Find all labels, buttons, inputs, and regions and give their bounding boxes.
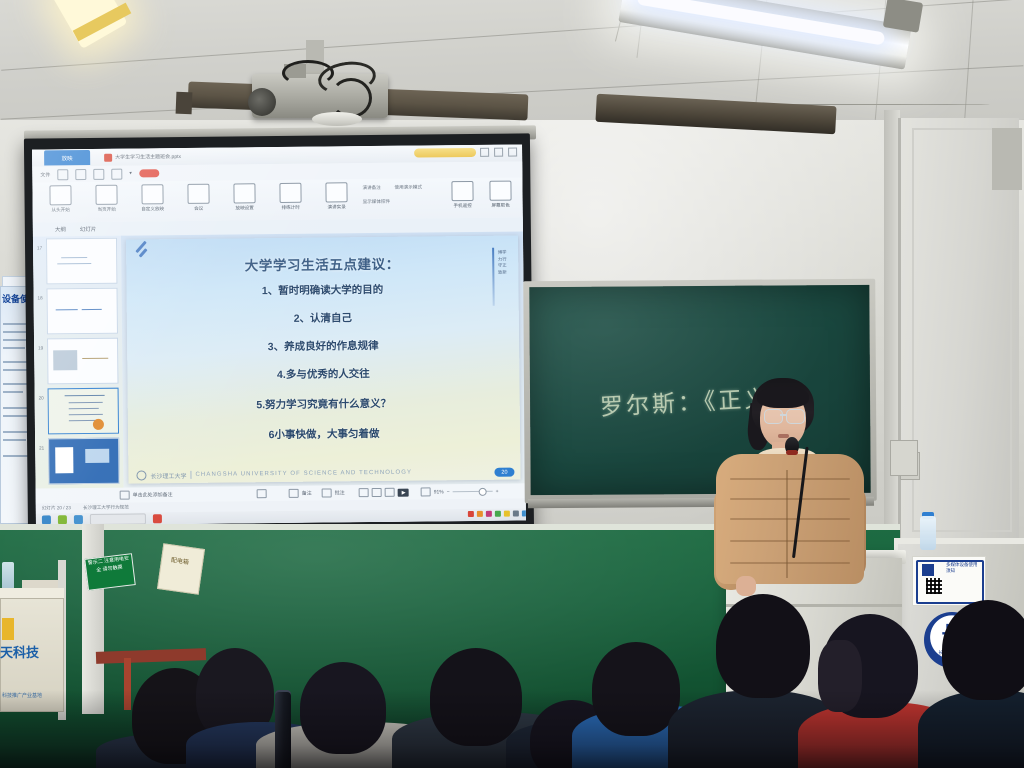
tray-icon[interactable] [477,511,483,517]
microphone-ring [786,450,798,455]
slide-number: 20 [35,388,48,403]
ribbon-check-media[interactable]: 显示媒体控件 [363,199,391,205]
comment-label[interactable]: 批注 [335,489,345,496]
fit-to-window-icon[interactable] [421,487,431,496]
ribbon-meeting[interactable]: 会议 [176,184,220,212]
file-menu[interactable]: 文件 [40,171,50,178]
browser-icon[interactable] [42,515,51,524]
zoom-slider-handle[interactable] [479,488,487,496]
slide-page-badge: 20 [494,468,514,477]
ribbon-play-from-start[interactable]: 从头开始 [38,185,82,213]
rehearse-icon [279,183,301,203]
document-name: 大学生学习生活主题班会.pptx [115,153,181,161]
slide-bullet: 5.努力学习究竟有什么意义？ [128,394,520,413]
speaker-fringe [757,386,809,408]
windows-icon[interactable] [58,515,67,524]
slide-preview[interactable] [47,338,118,385]
thumbnail-item[interactable]: 17 [33,238,118,288]
slide-bullet: 4.多与优秀的人交往 [127,364,519,383]
slide-preview[interactable] [46,238,117,285]
audience-head [942,600,1024,700]
maximize-icon[interactable] [494,148,503,157]
normal-view-icon[interactable] [359,488,369,497]
zoom-out-button[interactable]: − [447,489,450,495]
tray-icon[interactable] [513,510,519,516]
tab-slides[interactable]: 幻灯片 [80,225,97,233]
wps-presentation-window[interactable]: 放映 大学生学习生活主题班会.pptx 文件 ▾ [32,144,526,525]
speaker-puffer-jacket [716,454,864,584]
slide-bullet: 6小事快做，大事匀着做 [128,424,520,443]
slide-bullet: 3、养成良好的作息规律 [127,336,519,355]
slide-number: 21 [35,438,48,453]
eyedropper-icon [489,181,511,201]
slide-title: 大学学习生活五点建议： [126,251,518,275]
tab-slideshow[interactable]: 放映 [44,150,90,165]
thumbnail-item[interactable]: 18 [34,288,119,338]
zoom-level: 91% [434,489,444,495]
slide-preview[interactable] [48,438,119,485]
remark-icon[interactable] [289,489,299,498]
ribbon-eyedropper[interactable]: 屏幕取色 [478,180,522,208]
university-name-en: CHANGSHA UNIVERSITY OF SCIENCE AND TECHN… [195,470,412,478]
thumbnail-item-active[interactable]: 20 [35,388,120,438]
glasses-bridge-icon [780,414,787,416]
university-name-cn: 长沙理工大学 [150,470,186,479]
phone-remote-icon [451,181,473,201]
slide-bullet: 2、认清自己 [127,308,519,327]
cabinet-brand-text: 天科技 [0,642,60,661]
ribbon-custom-show[interactable]: 自定义放映 [130,184,174,212]
current-slide[interactable]: 大学学习生活五点建议： 1、暂时明确读大学的目的 2、认清自己 3、养成良好的作… [126,235,521,483]
projector-lens-icon [248,88,276,116]
dropdown-caret-icon[interactable]: ▾ [129,171,132,177]
classroom-lecture-photo: 设备使用规范 放映 大学生学习生活主题班会.pptx 文件 [0,0,1024,768]
slide-number: 17 [33,238,46,253]
show-settings-icon [233,183,255,203]
slide-preview[interactable] [48,388,119,435]
light-shade-end [176,92,193,115]
slide-count-indicator: 幻灯片 20 / 23 [42,505,71,511]
ribbon-check-notes[interactable]: 演讲备注 [362,185,380,191]
glasses-left-lens-icon [764,409,783,424]
tray-icon[interactable] [486,511,492,517]
qr-code-icon [926,578,942,594]
wps-ribbon[interactable]: 从头开始 当页开始 自定义放映 会议 放映设置 [32,177,522,222]
slide-footer: 长沙理工大学 CHANGSHA UNIVERSITY OF SCIENCE AN… [128,466,520,480]
slide-bullet: 1、暂时明确读大学的目的 [126,280,518,299]
print-icon[interactable] [75,169,86,180]
pptx-file-icon [104,153,112,161]
white-pillar [82,524,104,714]
zoom-in-button[interactable]: + [496,488,499,494]
ribbon-rehearse[interactable]: 排练计时 [268,183,312,211]
undo-icon[interactable] [93,168,104,179]
play-from-start-icon [49,185,71,205]
play-current-icon [95,185,117,205]
tray-icon[interactable] [468,511,474,517]
slide-editing-stage[interactable]: 大学学习生活五点建议： 1、暂时明确读大学的目的 2、认清自己 3、养成良好的作… [121,231,526,487]
slide-sorter-icon[interactable] [372,488,382,497]
wall-control-box[interactable] [890,440,918,476]
zoom-slider[interactable] [453,491,493,493]
audience-head [716,594,810,698]
save-icon[interactable] [57,169,68,180]
redo-icon[interactable] [111,168,122,179]
ribbon-check-presenter[interactable]: 使用演示模式 [394,184,422,190]
membership-banner[interactable] [414,148,476,158]
tab-outline[interactable]: 大纲 [55,225,66,233]
distribution-box-label [157,543,205,594]
notes-icon[interactable] [120,491,130,500]
speaker-hand [736,576,756,596]
play-slideshow-icon[interactable] [398,488,409,496]
cabinet-logo-icon [2,618,14,640]
explorer-window-button[interactable] [90,513,146,525]
water-bottle-on-desk [920,516,936,550]
close-icon[interactable] [508,147,517,156]
slide-number: 18 [34,288,47,303]
smoke-detector [312,112,362,126]
tray-icon[interactable] [522,510,526,516]
ribbon-play-current[interactable]: 当页开始 [84,185,128,213]
light-end-cap [883,0,923,33]
wps-icon[interactable] [153,514,162,523]
member-badge[interactable] [139,169,159,177]
remark-label[interactable]: 备注 [302,490,312,497]
jacket-zipper [786,470,788,578]
system-tray[interactable] [468,510,526,517]
slide-thumbnail-panel[interactable]: 17 18 19 [33,236,124,491]
ie-icon[interactable] [74,515,83,524]
tray-icon[interactable] [495,511,501,517]
slide-vertical-motto: 博学 力行 守正 致新 [496,250,508,277]
notes-placeholder[interactable]: 单击此处添加备注 [133,491,173,498]
thumbnail-item[interactable]: 19 [34,338,119,388]
window-controls[interactable] [480,147,517,156]
ribbon-record[interactable]: 演讲实录 [314,182,358,210]
wall-duct [992,128,1022,190]
minimize-icon[interactable] [480,148,489,157]
university-emblem-icon [136,470,146,480]
meeting-icon [187,184,209,204]
comment-icon[interactable] [322,488,332,497]
projection-screen[interactable]: 放映 大学生学习生活主题班会.pptx 文件 ▾ [32,144,526,525]
thumbnail-item[interactable]: 21 [35,438,120,488]
footer-divider [190,471,191,479]
reading-view-icon[interactable] [385,488,395,497]
person-pictogram-icon [922,564,934,576]
ribbon-show-settings[interactable]: 放映设置 [222,183,266,211]
custom-show-icon [141,184,163,204]
glasses-right-lens-icon [786,409,805,424]
sticker-title: 多媒体设备使用须知 [946,562,978,574]
heart-icon[interactable] [257,489,267,498]
foreground-shadow [0,690,1024,768]
record-icon [325,182,347,202]
slide-preview[interactable] [46,288,117,335]
slide-number: 19 [34,338,47,353]
tray-icon[interactable] [504,511,510,517]
document-tab[interactable]: 大学生学习生活主题班会.pptx [104,153,181,162]
document-title-label[interactable]: 长沙理工大学行为规范 [83,505,129,511]
